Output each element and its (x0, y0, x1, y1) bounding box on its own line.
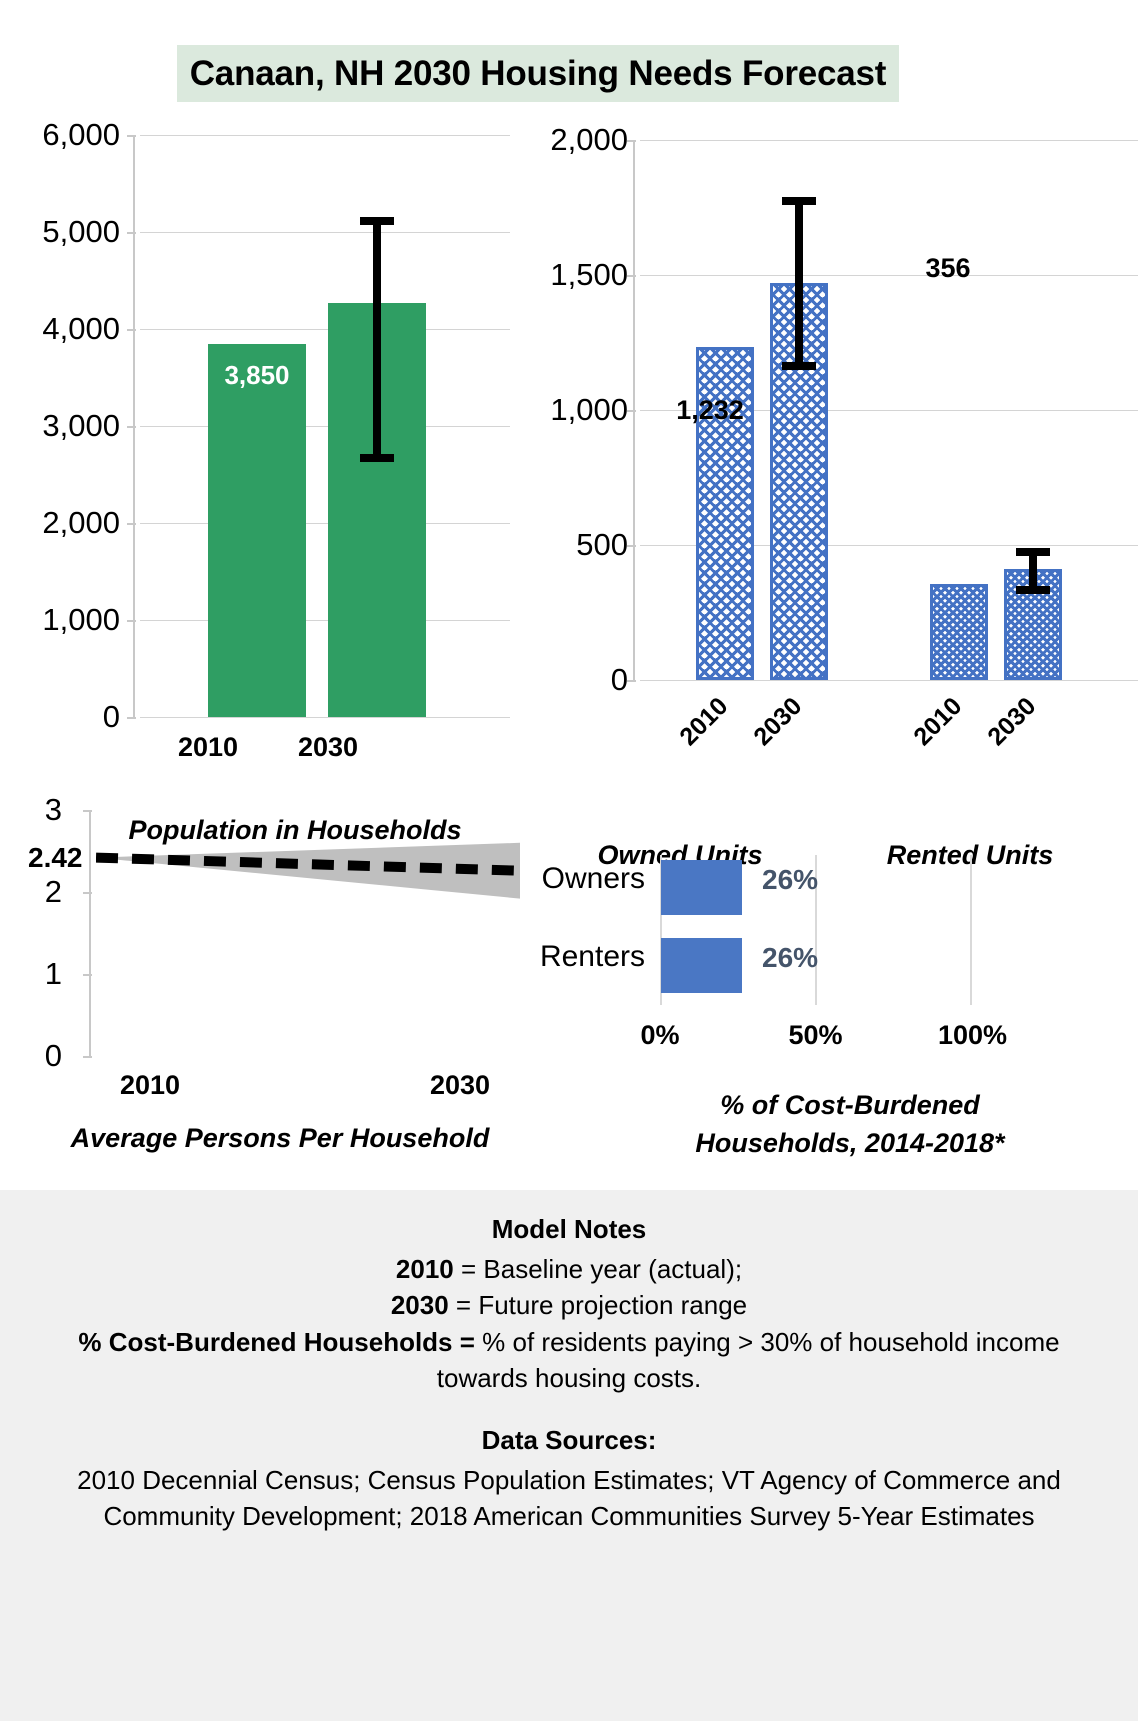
ytick-label: 0 (0, 699, 120, 735)
gridline (640, 680, 1138, 681)
error-bar-owned-2030 (770, 197, 828, 370)
chart-population-in-households: 6,000 5,000 4,000 3,000 2,000 1,000 0 3,… (0, 110, 520, 770)
y-axis-tick (127, 523, 136, 525)
y-axis-tick (627, 140, 636, 142)
xtick-label-2010: 2010 (90, 1070, 210, 1101)
ytick-label: 1,000 (518, 392, 628, 428)
error-bar-population-2030 (328, 217, 426, 462)
category-label-owners: Owners (500, 862, 645, 896)
gridline (140, 232, 510, 233)
model-notes-line-1: 2010 = Baseline year (actual); (60, 1251, 1078, 1287)
ytick-label: 0 (518, 662, 628, 698)
gridline (140, 135, 510, 136)
y-axis-tick (127, 232, 136, 234)
y-axis-tick (83, 974, 92, 976)
ytick-label: 1,000 (0, 602, 120, 638)
y-axis-line (89, 810, 91, 1058)
gridline (140, 717, 510, 718)
ytick-label: 0 (0, 1038, 62, 1074)
chart-cost-burdened-axis-title-line1: % of Cost-Burdened (600, 1090, 1100, 1121)
chart-cost-burdened-households: Owners 26% Renters 26% 0% 50% 100% (500, 835, 1138, 1075)
xtick-label-100pct: 100% (910, 1020, 1035, 1051)
ytick-label: 1 (0, 956, 62, 992)
bar-rented-2010[interactable] (930, 584, 988, 680)
ytick-label: 3 (0, 792, 62, 828)
model-notes-line-2: 2030 = Future projection range (60, 1287, 1078, 1323)
ytick-label: 500 (518, 527, 628, 563)
y-axis-tick (627, 680, 636, 682)
xtick-label-rented-2010: 2010 (908, 692, 968, 752)
bar-label-rented-2010: 356 (888, 253, 1008, 284)
y-axis-tick (83, 892, 92, 894)
xtick-label-owned-2010: 2010 (674, 692, 734, 752)
chart-average-persons-per-household: 3 2 1 0 2.42 2010 2030 (0, 785, 530, 1085)
note-bold-costburden: % Cost-Burdened Households = (78, 1327, 475, 1357)
y-axis-tick (127, 135, 136, 137)
error-bar-cap-top (1016, 548, 1050, 556)
page-title-band: Canaan, NH 2030 Housing Needs Forecast (177, 45, 899, 102)
xtick-label-50pct: 50% (758, 1020, 873, 1051)
axis-title-line1-text: % of Cost-Burdened (720, 1090, 980, 1120)
y-axis-tick (83, 1056, 92, 1058)
note-bold-2010: 2010 (396, 1254, 454, 1284)
ytick-label: 6,000 (0, 117, 120, 153)
bar-label-renters: 26% (762, 942, 818, 974)
chart-housing-units: 2,000 1,500 1,000 500 0 1,232 356 (518, 110, 1138, 780)
xtick-label-2010: 2010 (159, 732, 257, 763)
data-sources-text: 2010 Decennial Census; Census Population… (60, 1462, 1078, 1535)
model-notes-panel: Model Notes 2010 = Baseline year (actual… (0, 1190, 1138, 1721)
ytick-label: 2 (0, 874, 62, 910)
trend-line (96, 810, 520, 1056)
error-bar-stem (795, 197, 803, 370)
category-label-renters: Renters (500, 940, 645, 974)
gridline-100pct (970, 855, 972, 1005)
ytick-label: 4,000 (0, 311, 120, 347)
model-notes-line-3: % Cost-Burdened Households = % of reside… (60, 1324, 1078, 1397)
error-bar-cap-bottom (1016, 586, 1050, 594)
error-bar-cap-bottom (360, 454, 394, 462)
bar-label-owners: 26% (762, 864, 818, 896)
chart-pph-axis-title: Average Persons Per Household (30, 1123, 530, 1154)
axis-title-line2-text: Households, 2014-2018* (695, 1128, 1004, 1158)
line-label-2010: 2.42 (28, 842, 83, 874)
y-axis-tick (127, 717, 136, 719)
plot-area: 3,850 (140, 135, 510, 717)
notes-spacer (60, 1397, 1078, 1423)
y-axis-tick (127, 426, 136, 428)
note-bold-2030: 2030 (391, 1290, 449, 1320)
y-axis-tick (127, 329, 136, 331)
gridline (140, 620, 510, 621)
ytick-label: 5,000 (0, 214, 120, 250)
ytick-label: 1,500 (518, 257, 628, 293)
xtick-label-rented-2030: 2030 (982, 692, 1042, 752)
y-axis-tick (127, 620, 136, 622)
infographic-page: Canaan, NH 2030 Housing Needs Forecast 6… (0, 0, 1138, 1721)
ytick-label: 3,000 (0, 408, 120, 444)
plot-area (96, 810, 520, 1056)
ytick-label: 2,000 (0, 505, 120, 541)
gridline (140, 329, 510, 330)
gridline (140, 523, 510, 524)
note-rest-costburden: % of residents paying > 30% of household… (437, 1327, 1060, 1393)
note-rest-2030: = Future projection range (449, 1290, 747, 1320)
bar-renters[interactable] (661, 938, 742, 993)
xtick-label-2030: 2030 (279, 732, 377, 763)
plot-area: 1,232 356 (640, 140, 1138, 680)
bar-owners[interactable] (661, 860, 742, 915)
page-title: Canaan, NH 2030 Housing Needs Forecast (190, 54, 887, 94)
error-bar-rented-2030 (1004, 548, 1062, 594)
bar-label-owned-2010: 1,232 (650, 395, 770, 426)
bar-population-2010[interactable] (208, 344, 306, 717)
ytick-label: 2,000 (518, 122, 628, 158)
xtick-label-owned-2030: 2030 (748, 692, 808, 752)
error-bar-stem (373, 217, 381, 462)
gridline (140, 426, 510, 427)
error-bar-cap-top (782, 197, 816, 205)
error-bar-cap-top (360, 217, 394, 225)
note-rest-2010: = Baseline year (actual); (454, 1254, 742, 1284)
xtick-label-0pct: 0% (610, 1020, 710, 1051)
y-axis-tick (627, 275, 636, 277)
model-notes-heading: Model Notes (60, 1212, 1078, 1247)
y-axis-tick (627, 410, 636, 412)
y-axis-tick (83, 810, 92, 812)
bar-label-population-2010: 3,850 (208, 360, 306, 391)
data-sources-heading: Data Sources: (60, 1423, 1078, 1458)
y-axis-tick (627, 545, 636, 547)
chart-cost-burdened-axis-title-line2: Households, 2014-2018* (600, 1128, 1100, 1159)
gridline (640, 140, 1138, 141)
error-bar-cap-bottom (782, 362, 816, 370)
